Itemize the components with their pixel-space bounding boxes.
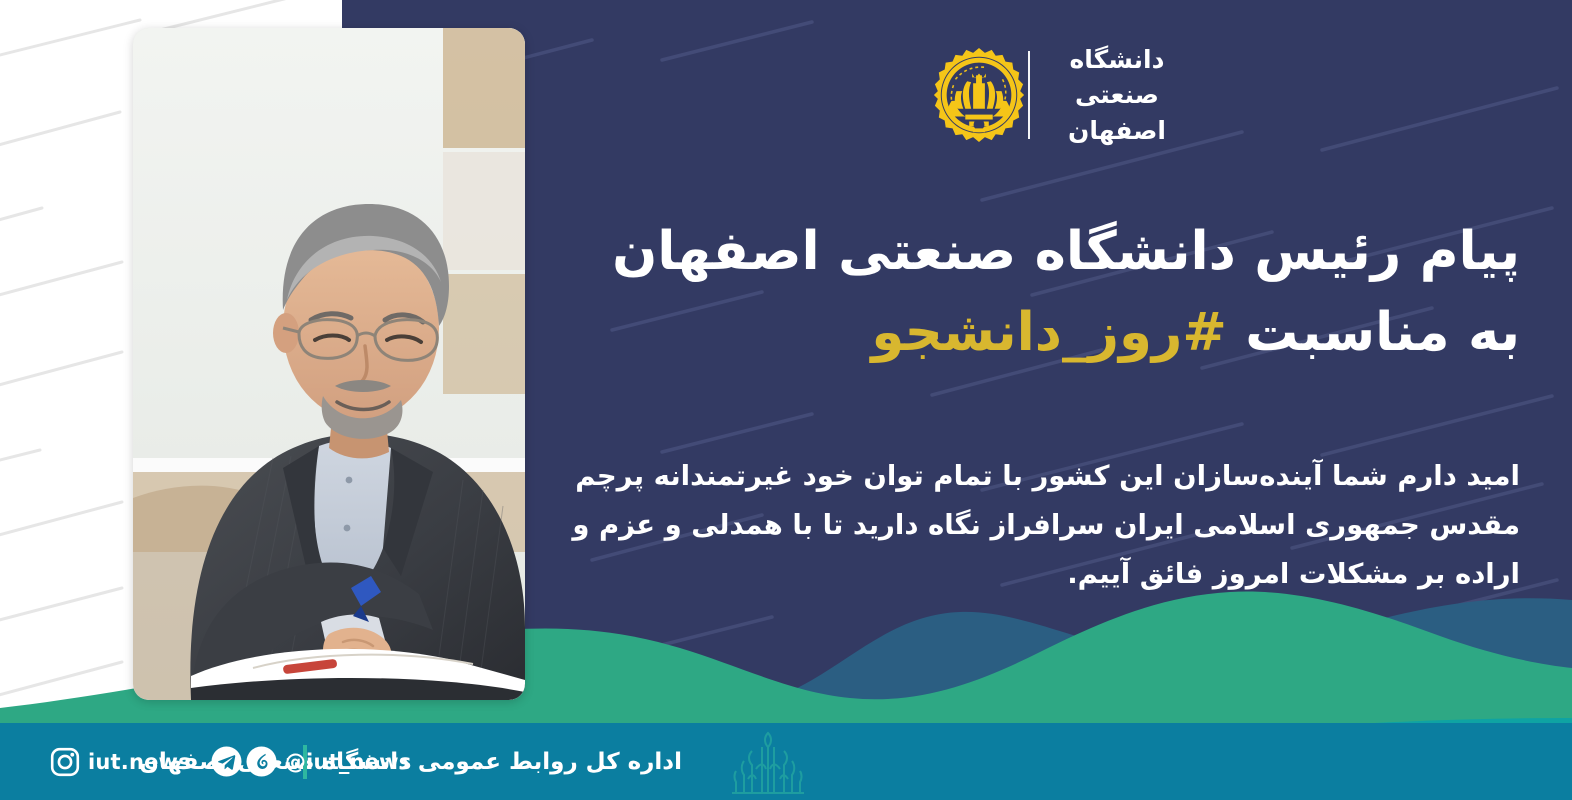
poster-canvas: دانشگاه صنعتی اصفهان bbox=[0, 0, 1572, 800]
university-name: دانشگاه صنعتی اصفهان bbox=[1048, 42, 1166, 149]
headline: پیام رئیس دانشگاه صنعتی اصفهان به مناسبت… bbox=[540, 212, 1520, 373]
headline-hashtag: #روز_دانشجو bbox=[871, 302, 1227, 363]
instagram-icon bbox=[50, 747, 80, 777]
headline-line-2-prefix: به مناسبت bbox=[1227, 302, 1520, 363]
isfahan-university-of-technology-emblem bbox=[930, 46, 1028, 144]
headline-line-1: پیام رئیس دانشگاه صنعتی اصفهان bbox=[540, 212, 1520, 293]
messenger-handle: @iut_news bbox=[285, 750, 412, 774]
message-paragraph: امید دارم شما آینده‌سازان این کشور با تم… bbox=[535, 452, 1520, 599]
social-links: iut.news @iut_news bbox=[50, 746, 411, 777]
messenger-icons bbox=[211, 746, 277, 777]
university-logo-block: دانشگاه صنعتی اصفهان bbox=[930, 30, 1200, 160]
president-photo-illustration bbox=[133, 28, 525, 700]
social-instagram[interactable]: iut.news bbox=[50, 747, 191, 777]
footer-bar: اداره کل روابط عمومی دانشگاه صنعتی اصفها… bbox=[0, 723, 1572, 800]
bale-icon[interactable] bbox=[246, 746, 277, 777]
headline-line-2: به مناسبت #روز_دانشجو bbox=[540, 293, 1520, 374]
president-photo bbox=[133, 28, 525, 700]
university-name-line-1: دانشگاه bbox=[1068, 42, 1166, 78]
university-name-line-2: صنعتی bbox=[1068, 77, 1166, 113]
university-name-line-3: اصفهان bbox=[1068, 113, 1166, 149]
instagram-handle: iut.news bbox=[88, 750, 191, 774]
telegram-icon[interactable] bbox=[211, 746, 242, 777]
logo-divider bbox=[1028, 51, 1030, 139]
